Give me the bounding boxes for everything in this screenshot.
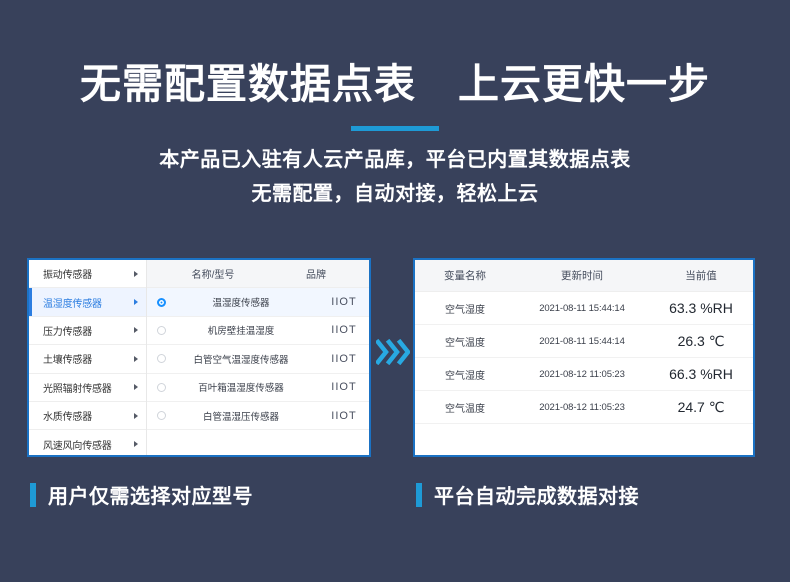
- radio-unselected-icon[interactable]: [157, 383, 166, 392]
- updated-time: 2021-08-12 11:05:23: [515, 402, 649, 413]
- subtitle-line-2: 无需配置，自动对接，轻松上云: [0, 177, 790, 211]
- sidebar-item-label: 压力传感器: [43, 323, 92, 338]
- column-header-name: 名称/型号: [147, 266, 279, 281]
- subtitle-block: 本产品已入驻有人云产品库，平台已内置其数据点表 无需配置，自动对接，轻松上云: [0, 143, 790, 211]
- current-value: 26.3 ℃: [649, 333, 753, 350]
- current-value: 63.3 %RH: [649, 300, 753, 316]
- radio-cell[interactable]: [147, 354, 175, 363]
- radio-cell[interactable]: [147, 326, 175, 335]
- table-row[interactable]: 机房壁挂温湿度 IIOT: [147, 317, 371, 345]
- sidebar-item-label: 土壤传感器: [43, 351, 92, 366]
- sidebar-item-temp-humidity[interactable]: 温湿度传感器: [29, 288, 146, 316]
- chevron-right-icon: [134, 356, 138, 362]
- caption-left: 用户仅需选择对应型号: [30, 480, 253, 509]
- caption-accent-bar: [30, 483, 36, 507]
- variable-name: 空气温度: [415, 400, 515, 415]
- chevron-group-icon: [376, 339, 410, 365]
- model-brand: IIOT: [307, 324, 371, 336]
- chevron-right-icon: [134, 413, 138, 419]
- triple-chevron-right-icon: [376, 339, 410, 365]
- sidebar-item-illumination[interactable]: 光照辐射传感器: [29, 374, 146, 402]
- radio-cell[interactable]: [147, 298, 175, 307]
- radio-unselected-icon[interactable]: [157, 326, 166, 335]
- device-data-panel: 变量名称 更新时间 当前值 空气湿度 2021-08-11 15:44:14 6…: [413, 258, 755, 457]
- current-value: 66.3 %RH: [649, 366, 753, 382]
- model-brand: IIOT: [307, 410, 371, 422]
- table-row[interactable]: 白管温湿压传感器 IIOT: [147, 402, 371, 430]
- model-brand: IIOT: [307, 296, 371, 308]
- table-row: 空气湿度 2021-08-11 15:44:14 63.3 %RH: [415, 292, 753, 325]
- variable-name: 空气湿度: [415, 301, 515, 316]
- caption-accent-bar: [416, 483, 422, 507]
- model-table-header: 名称/型号 品牌: [147, 260, 371, 288]
- promo-page: 无需配置数据点表 上云更快一步 本产品已入驻有人云产品库，平台已内置其数据点表 …: [0, 0, 790, 582]
- subtitle-line-1: 本产品已入驻有人云产品库，平台已内置其数据点表: [0, 143, 790, 177]
- caption-right-text: 平台自动完成数据对接: [434, 480, 639, 509]
- column-header-variable: 变量名称: [415, 268, 515, 283]
- sidebar-item-wind[interactable]: 风速风向传感器: [29, 430, 146, 457]
- sidebar-item-water-quality[interactable]: 水质传感器: [29, 402, 146, 430]
- chevron-right-icon: [134, 271, 138, 277]
- page-title: 无需配置数据点表 上云更快一步: [0, 58, 790, 110]
- sensor-category-list: 振动传感器 温湿度传感器 压力传感器 土壤传感器: [29, 260, 147, 455]
- chevron-right-icon: [134, 441, 138, 447]
- model-name: 百叶箱温湿度传感器: [175, 380, 307, 394]
- radio-cell[interactable]: [147, 383, 175, 392]
- model-name: 温湿度传感器: [175, 295, 307, 309]
- sidebar-item-label: 振动传感器: [43, 266, 92, 281]
- sidebar-item-label: 温湿度传感器: [43, 295, 102, 310]
- radio-cell[interactable]: [147, 411, 175, 420]
- sidebar-item-label: 水质传感器: [43, 408, 92, 423]
- sidebar-item-label: 风速风向传感器: [43, 437, 112, 452]
- headline-block: 无需配置数据点表 上云更快一步: [0, 58, 790, 131]
- title-underline-accent: [351, 126, 439, 131]
- radio-unselected-icon[interactable]: [157, 411, 166, 420]
- model-name: 机房壁挂温湿度: [175, 323, 307, 337]
- variable-name: 空气湿度: [415, 367, 515, 382]
- variable-name: 空气温度: [415, 334, 515, 349]
- updated-time: 2021-08-11 15:44:14: [515, 303, 649, 314]
- model-table: 名称/型号 品牌 温湿度传感器 IIOT 机房壁挂温湿度 IIOT: [147, 260, 371, 455]
- sidebar-item-pressure[interactable]: 压力传感器: [29, 317, 146, 345]
- chevron-right-icon: [134, 384, 138, 390]
- model-brand: IIOT: [307, 381, 371, 393]
- sidebar-item-soil[interactable]: 土壤传感器: [29, 345, 146, 373]
- caption-right: 平台自动完成数据对接: [416, 480, 639, 509]
- updated-time: 2021-08-11 15:44:14: [515, 336, 649, 347]
- model-brand: IIOT: [307, 353, 371, 365]
- model-name: 白管空气温湿度传感器: [175, 352, 307, 366]
- model-name: 白管温湿压传感器: [175, 409, 307, 423]
- column-header-brand: 品牌: [279, 266, 353, 281]
- column-header-updated: 更新时间: [515, 268, 649, 283]
- caption-left-text: 用户仅需选择对应型号: [48, 480, 253, 509]
- table-row: 空气温度 2021-08-11 15:44:14 26.3 ℃: [415, 325, 753, 358]
- radio-selected-icon[interactable]: [157, 298, 166, 307]
- table-row: 空气湿度 2021-08-12 11:05:23 66.3 %RH: [415, 358, 753, 391]
- table-row[interactable]: 温湿度传感器 IIOT: [147, 288, 371, 316]
- sidebar-item-label: 光照辐射传感器: [43, 380, 112, 395]
- chevron-right-icon: [134, 327, 138, 333]
- product-library-panel: 振动传感器 温湿度传感器 压力传感器 土壤传感器: [27, 258, 371, 457]
- data-table-header: 变量名称 更新时间 当前值: [415, 260, 753, 292]
- table-row: 空气温度 2021-08-12 11:05:23 24.7 ℃: [415, 391, 753, 424]
- updated-time: 2021-08-12 11:05:23: [515, 369, 649, 380]
- table-row[interactable]: 百叶箱温湿度传感器 IIOT: [147, 374, 371, 402]
- column-header-value: 当前值: [649, 268, 753, 283]
- chevron-right-icon: [134, 299, 138, 305]
- table-row[interactable]: 白管空气温湿度传感器 IIOT: [147, 345, 371, 373]
- sidebar-item-vibration[interactable]: 振动传感器: [29, 260, 146, 288]
- radio-unselected-icon[interactable]: [157, 354, 166, 363]
- current-value: 24.7 ℃: [649, 399, 753, 416]
